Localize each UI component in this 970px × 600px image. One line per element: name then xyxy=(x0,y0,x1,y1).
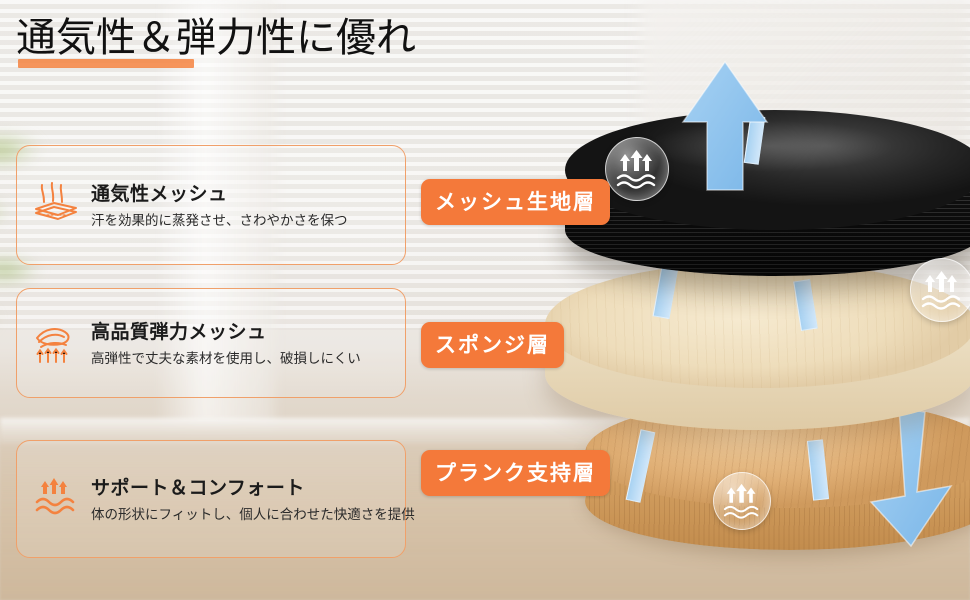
page-title-text: 通気性＆弾力性に優れ xyxy=(16,16,416,60)
feature-card-comfort[interactable]: サポート＆コンフォート 体の形状にフィットし、個人に合わせた快適さを提供 xyxy=(16,440,406,558)
breathable-mesh-icon xyxy=(29,179,85,231)
feature-card-text: サポート＆コンフォート 体の形状にフィットし、個人に合わせた快適さを提供 xyxy=(91,473,415,525)
feature-title: サポート＆コンフォート xyxy=(91,473,415,500)
layer-label-sponge[interactable]: スポンジ層 xyxy=(421,322,564,368)
feature-title: 通気性メッシュ xyxy=(91,179,393,206)
airflow-up-arrow xyxy=(671,58,781,198)
feature-title: 高品質弾力メッシュ xyxy=(91,317,393,344)
feature-subtitle: 汗を効果的に蒸発させ、さわやかさを保つ xyxy=(91,209,393,229)
airflow-wave-badge-icon xyxy=(605,137,669,201)
cushion-layer-stack xyxy=(455,0,970,600)
feature-card-breathable[interactable]: 通気性メッシュ 汗を効果的に蒸発させ、さわやかさを保つ xyxy=(16,145,406,265)
product-infographic: 通気性＆弾力性に優れ 通気性メッシュ 汗を効果的に蒸発させ、さわやかさを保つ xyxy=(0,0,970,600)
feature-subtitle: 高弾性で丈夫な素材を使用し、破損しにくい xyxy=(91,347,393,367)
elastic-mesh-icon xyxy=(29,317,85,369)
comfort-wave-icon xyxy=(29,473,85,525)
airflow-down-arrow xyxy=(855,406,970,556)
page-title: 通気性＆弾力性に優れ xyxy=(16,16,416,78)
layer-label-plank[interactable]: プランク支持層 xyxy=(421,450,610,496)
feature-card-elastic[interactable]: 高品質弾力メッシュ 高弾性で丈夫な素材を使用し、破損しにくい xyxy=(16,288,406,398)
airflow-wave-badge-icon xyxy=(713,472,771,530)
feature-card-text: 高品質弾力メッシュ 高弾性で丈夫な素材を使用し、破損しにくい xyxy=(91,317,393,369)
feature-subtitle: 体の形状にフィットし、個人に合わせた快適さを提供 xyxy=(91,503,415,523)
feature-card-text: 通気性メッシュ 汗を効果的に蒸発させ、さわやかさを保つ xyxy=(91,179,393,231)
airflow-wave-badge-icon xyxy=(910,258,970,322)
layer-label-mesh[interactable]: メッシュ生地層 xyxy=(421,179,610,225)
sponge-layer-surface xyxy=(545,262,970,388)
